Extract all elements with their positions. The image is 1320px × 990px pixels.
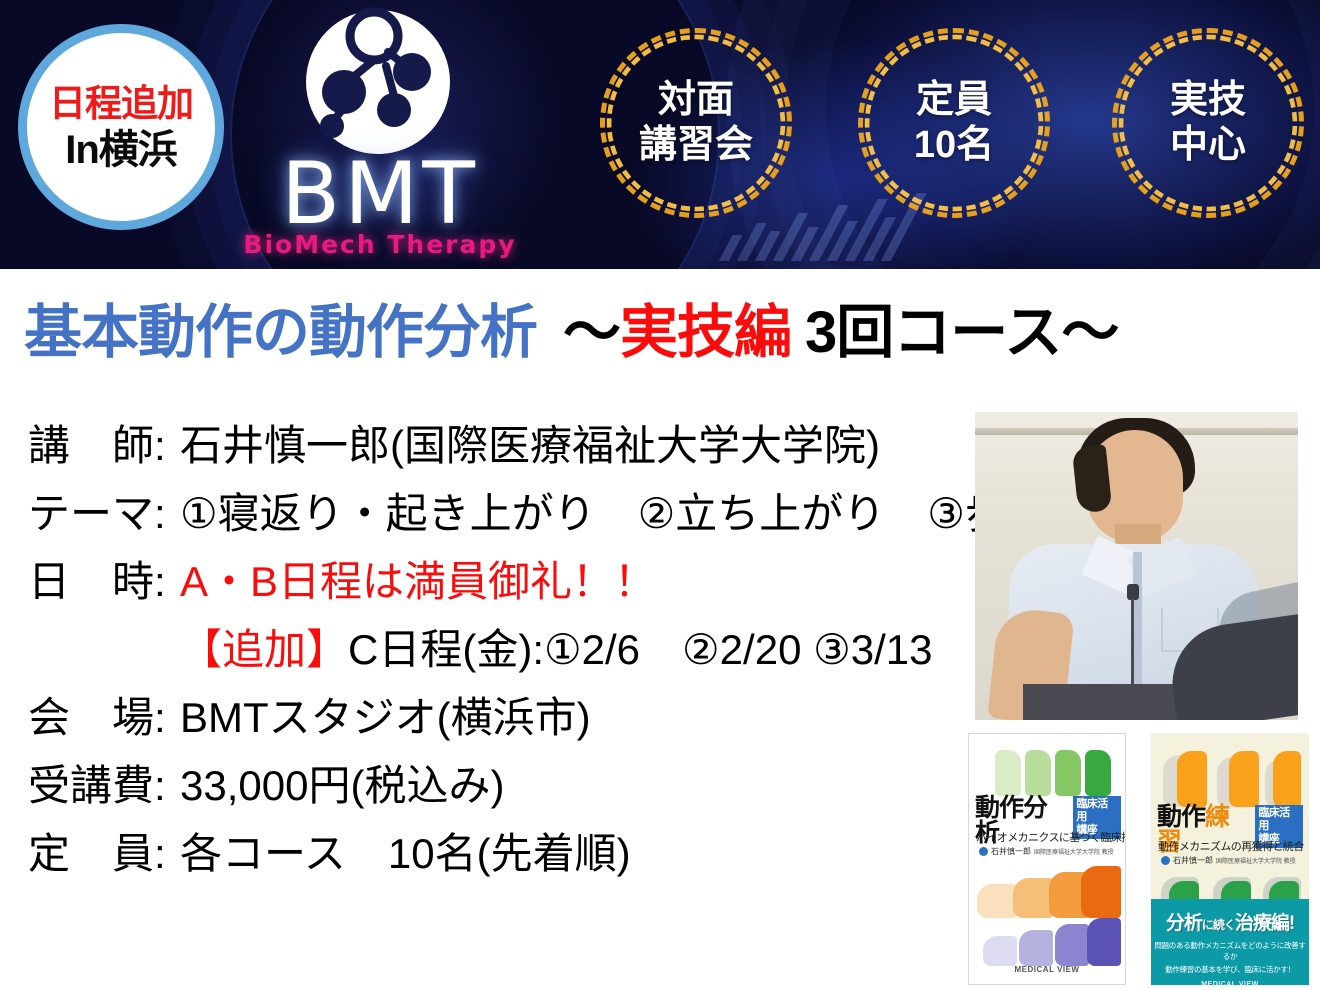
publisher-dot-icon [979, 847, 988, 856]
feature-badge-jitsugi: 実技 中心 [1112, 28, 1304, 218]
detail-value-theme: ①寝返り・起き上がり ②立ち上がり ③歩行 [180, 480, 1049, 541]
badge-jitsugi-line2: 中心 [1170, 123, 1246, 168]
publisher-dot-icon [1161, 856, 1170, 865]
bmt-logo: BMT BioMech Therapy [230, 4, 530, 266]
detail-value-venue: BMTスタジオ(横浜市) [180, 684, 591, 745]
badge-taimen-line2: 講習会 [639, 123, 753, 168]
reaching-figure-icon [977, 884, 1017, 918]
detail-label-fee: 受講費: [28, 752, 180, 813]
detail-row-venue: 会 場: BMTスタジオ(横浜市) [28, 684, 968, 752]
crouch-figure-icon [1025, 750, 1051, 796]
standing-figure-icon [1229, 751, 1259, 807]
detail-value-fee: 33,000円(税込み) [180, 752, 504, 813]
book2-author-row: 石井慎一郎 国際医療福祉大学大学院 教授 [1161, 855, 1296, 866]
book2-band-headline-a: 分析 [1166, 913, 1202, 934]
detail-extra-rest: C日程(金):①2/6 ②2/20 ③3/13 [348, 616, 932, 677]
detail-row-theme: テーマ: ①寝返り・起き上がり ②立ち上がり ③歩行 [28, 480, 968, 548]
book-cover-dousabunseki: 動作分析 臨床活用 講座 バイオメカニクスに基づく臨床推論の実践 石井慎一郎 国… [968, 733, 1126, 985]
detail-list: 講 師: 石井慎一郎(国際医療福祉大学大学院) テーマ: ①寝返り・起き上がり … [28, 412, 968, 888]
detail-row-datetime-extra: 【追加】 C日程(金):①2/6 ②2/20 ③3/13 [28, 616, 968, 684]
book2-band-sub2: 動作練習の基本を学び、臨床に活かす！ [1151, 965, 1309, 976]
detail-row-capacity: 定 員: 各コース 10名(先着順) [28, 820, 968, 888]
book2-promo-band: 分析に続く治療編! 問題のある動作メカニズムをどのように改善するか 動作練習の基… [1151, 899, 1309, 985]
feature-badge-taimen: 対面 講習会 [600, 28, 792, 218]
sitting-figure-icon [1055, 924, 1089, 966]
book2-author-affiliation: 国際医療福祉大学大学院 教授 [1216, 856, 1296, 865]
detail-label-capacity: 定 員: [28, 820, 180, 881]
detail-label-datetime: 日 時: [28, 548, 180, 609]
bmt-tagline: BioMech Therapy [230, 230, 530, 259]
badge-teiin-line2: 10名 [914, 123, 994, 168]
sitting-figure-icon [983, 936, 1017, 966]
detail-row-fee: 受講費: 33,000円(税込み) [28, 752, 968, 820]
book2-figure-row-orange [1151, 747, 1309, 807]
book1-author: 石井慎一郎 [991, 846, 1031, 857]
crouch-figure-icon [1085, 750, 1111, 796]
detail-label-lecturer: 講 師: [28, 412, 180, 473]
poster-root: 日程追加 In横浜 BMT BioMech Therapy [0, 0, 1320, 990]
badge-line2: In横浜 [65, 130, 177, 170]
book1-author-row: 石井慎一郎 国際医療福祉大学大学院 教授 [979, 846, 1114, 857]
sitting-figure-icon [1087, 918, 1121, 966]
detail-value-datetime: A・B日程は満員御礼！！ [180, 548, 656, 609]
reaching-figure-icon [1013, 878, 1053, 918]
book2-badge-line1: 臨床活用 [1258, 807, 1290, 832]
book2-band-headline: 分析に続く治療編! [1151, 908, 1309, 935]
title-part-black: 3回コース～ [805, 285, 1118, 369]
crouch-figure-icon [995, 750, 1021, 796]
book2-band-publisher: MEDICAL VIEW [1151, 981, 1309, 985]
badge-jitsugi-line1: 実技 [1170, 78, 1246, 123]
detail-row-lecturer: 講 師: 石井慎一郎(国際医療福祉大学大学院) [28, 412, 968, 480]
book2-band-sub1: 問題のある動作メカニズムをどのように改善するか [1151, 941, 1309, 963]
schedule-added-badge: 日程追加 In横浜 [18, 24, 224, 230]
book1-badge-line1: 臨床活用 [1076, 798, 1108, 823]
book2-subtitle: 動作メカニズムの再獲得と統合 [1158, 838, 1304, 854]
detail-value-capacity: 各コース 10名(先着順) [180, 820, 631, 881]
title-tilde-open: ～ [563, 285, 620, 369]
lecturer-photo [975, 412, 1298, 720]
crouch-figure-icon [1055, 750, 1081, 796]
book2-title-plain: 動作 [1157, 803, 1205, 831]
reaching-figure-icon [1081, 866, 1121, 918]
page-title: 基本動作の動作分析 ～ 実技編 3回コース～ [24, 292, 1304, 362]
book1-subtitle: バイオメカニクスに基づく臨床推論の実践 [976, 829, 1126, 845]
detail-row-datetime: 日 時: A・B日程は満員御礼！！ [28, 548, 968, 616]
book1-author-affiliation: 国際医療福祉大学大学院 教授 [1034, 847, 1114, 856]
badge-taimen-line1: 対面 [658, 78, 734, 123]
book1-figure-row-green [969, 740, 1125, 796]
standing-figure-icon [1177, 751, 1207, 807]
feature-badge-teiin: 定員 10名 [858, 28, 1050, 218]
book2-band-headline-b: に続く [1202, 918, 1235, 932]
detail-extra-emphasis: 【追加】 [180, 616, 348, 677]
book2-band-headline-c: 治療編! [1235, 913, 1294, 934]
book1-figure-row-purple [969, 914, 1125, 966]
book2-author: 石井慎一郎 [1173, 855, 1213, 866]
bmt-molecule-icon [302, 6, 454, 158]
book-cover-dousarenshuu: 動作練習 臨床活用 講座 動作メカニズムの再獲得と統合 石井慎一郎 国際医療福祉… [1151, 733, 1309, 985]
book1-figure-row-orange [969, 862, 1125, 918]
title-part-blue: 基本動作の動作分析 [24, 285, 537, 369]
bmt-wordmark: BMT [230, 144, 530, 244]
badge-line1: 日程追加 [49, 85, 193, 122]
standing-figure-icon [1273, 751, 1301, 807]
photo-hair-side [1072, 444, 1113, 513]
sitting-figure-icon [1019, 930, 1053, 966]
book1-publisher: MEDICAL VIEW [969, 965, 1125, 974]
title-part-red: 実技編 [620, 285, 791, 369]
badge-teiin-line1: 定員 [916, 78, 992, 123]
detail-label-theme: テーマ: [28, 480, 180, 541]
detail-value-lecturer: 石井慎一郎(国際医療福祉大学大学院) [180, 412, 880, 473]
detail-label-venue: 会 場: [28, 684, 180, 745]
header-banner: 日程追加 In横浜 BMT BioMech Therapy [0, 0, 1320, 269]
